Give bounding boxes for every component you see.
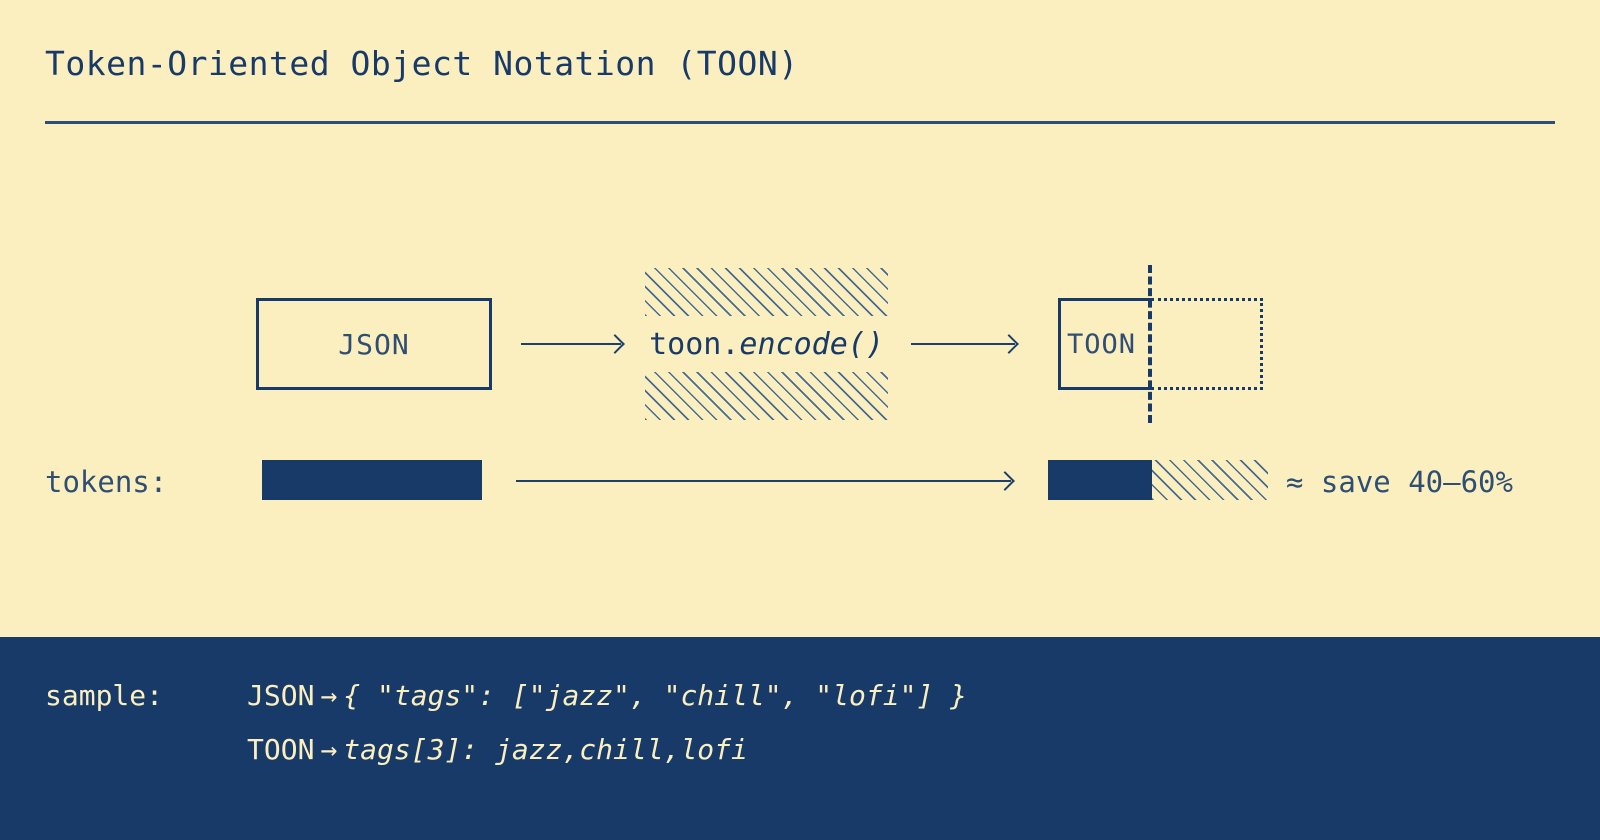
tokens-bar-json xyxy=(262,460,482,500)
arrow-right-icon-json-to-encode xyxy=(521,343,621,345)
toon-box-group[interactable]: TOON xyxy=(1058,265,1263,423)
toon-box-divider xyxy=(1148,265,1152,423)
sample-panel-label: sample: xyxy=(45,679,163,712)
encode-label: toon.encode() xyxy=(645,316,888,372)
hatch-pattern-top xyxy=(645,268,888,316)
toon-box-filled: TOON xyxy=(1058,298,1151,390)
arrow-right-icon-tokens xyxy=(516,480,1011,482)
pipeline-diagram: JSON toon.encode() TOON tokens: ≈ save 4… xyxy=(0,130,1600,637)
json-box[interactable]: JSON xyxy=(256,298,492,390)
toon-box-label: TOON xyxy=(1061,329,1136,360)
tokens-row-label: tokens: xyxy=(45,465,167,499)
arrow-right-glyph-json: → xyxy=(314,679,343,712)
sample-line-json-value: { "tags": ["jazz", "chill", "lofi"] } xyxy=(343,679,967,712)
encode-label-call: encode() xyxy=(739,327,884,362)
sample-line-toon: TOON→tags[3]: jazz,chill,lofi xyxy=(247,733,748,766)
page-title: Token-Oriented Object Notation (TOON) xyxy=(45,44,799,83)
encode-step: toon.encode() xyxy=(645,268,888,420)
tokens-bar-toon xyxy=(1048,460,1268,500)
sample-panel: sample: JSON→{ "tags": ["jazz", "chill",… xyxy=(0,637,1600,840)
tokens-bar-toon-saved xyxy=(1152,460,1268,500)
json-box-label: JSON xyxy=(338,328,409,361)
sample-line-toon-format: TOON xyxy=(247,733,314,766)
sample-line-json-format: JSON xyxy=(247,679,314,712)
savings-note: ≈ save 40–60% xyxy=(1286,465,1513,499)
title-divider-rule xyxy=(45,121,1555,124)
encode-label-prefix: toon. xyxy=(649,327,739,362)
arrow-right-icon-encode-to-toon xyxy=(911,343,1015,345)
tokens-bar-toon-fill xyxy=(1048,460,1152,500)
hatch-pattern-bottom xyxy=(645,372,888,420)
sample-line-json: JSON→{ "tags": ["jazz", "chill", "lofi"]… xyxy=(247,679,967,712)
sample-line-toon-value: tags[3]: jazz,chill,lofi xyxy=(343,733,748,766)
arrow-right-glyph-toon: → xyxy=(314,733,343,766)
page-header: Token-Oriented Object Notation (TOON) xyxy=(0,0,1600,130)
toon-box-saved-region xyxy=(1151,298,1263,390)
